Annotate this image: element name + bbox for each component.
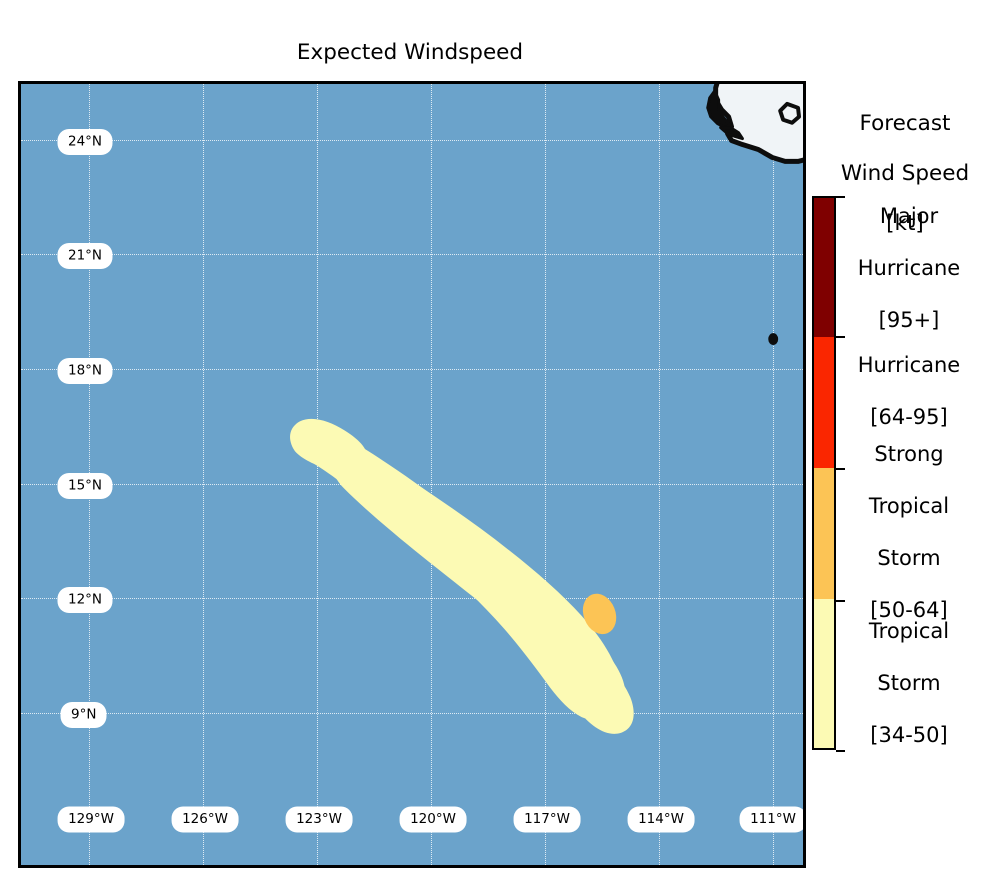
gridline-lat-18	[21, 369, 803, 370]
colorbar-label-strong-tropical-storm-line-1: Strong	[830, 441, 988, 467]
gridline-lon-114	[659, 84, 660, 865]
lon-tick-label-111: 111°W	[742, 809, 804, 830]
colorbar-label-hurricane-line-1: Hurricane	[830, 352, 988, 378]
lon-tick-label-129: 129°W	[60, 809, 122, 830]
colorbar-label-strong-tropical-storm-line-3: Storm	[830, 545, 988, 571]
colorbar-label-major-hurricane-line-2: Hurricane	[830, 255, 988, 281]
page-title-line-1: Expected Windspeed	[0, 40, 820, 66]
gridline-lat-15	[21, 484, 803, 485]
gridline-lon-120	[431, 84, 432, 865]
gridline-lon-117	[545, 84, 546, 865]
gridline-lon-123	[317, 84, 318, 865]
lon-tick-label-123: 123°W	[288, 809, 350, 830]
colorbar-label-strong-tropical-storm-line-2: Tropical	[830, 493, 988, 519]
lat-tick-label-24: 24°N	[60, 132, 110, 153]
lat-tick-label-21: 21°N	[60, 246, 110, 267]
ocean-background	[21, 84, 803, 865]
lon-tick-label-117: 117°W	[516, 809, 578, 830]
lat-tick-label-18: 18°N	[60, 361, 110, 382]
lat-tick-label-9: 9°N	[63, 705, 104, 726]
gridline-lat-9	[21, 713, 803, 714]
gridline-lon-129	[89, 84, 90, 865]
colorbar-label-tropical-storm: Tropical Storm [34-50]	[830, 592, 988, 774]
lon-tick-label-114: 114°W	[630, 809, 692, 830]
forecast-map[interactable]: 24°N 21°N 18°N 15°N 12°N 9°N 129°W 126°W…	[18, 81, 806, 868]
colorbar-title-line-1: Forecast	[822, 111, 988, 136]
lon-tick-label-120: 120°W	[402, 809, 464, 830]
gridline-lat-21	[21, 254, 803, 255]
colorbar-label-major-hurricane-line-1: Major	[830, 203, 988, 229]
gridline-lat-12	[21, 598, 803, 599]
lat-tick-label-15: 15°N	[60, 476, 110, 497]
colorbar-label-tropical-storm-line-1: Tropical	[830, 618, 988, 644]
colorbar-label-tropical-storm-line-2: Storm	[830, 670, 988, 696]
lat-tick-label-12: 12°N	[60, 590, 110, 611]
gridline-lon-111	[773, 84, 774, 865]
colorbar-label-tropical-storm-line-3: [34-50]	[830, 722, 988, 748]
gridline-lat-24	[21, 140, 803, 141]
lon-tick-label-126: 126°W	[174, 809, 236, 830]
gridline-lon-126	[203, 84, 204, 865]
